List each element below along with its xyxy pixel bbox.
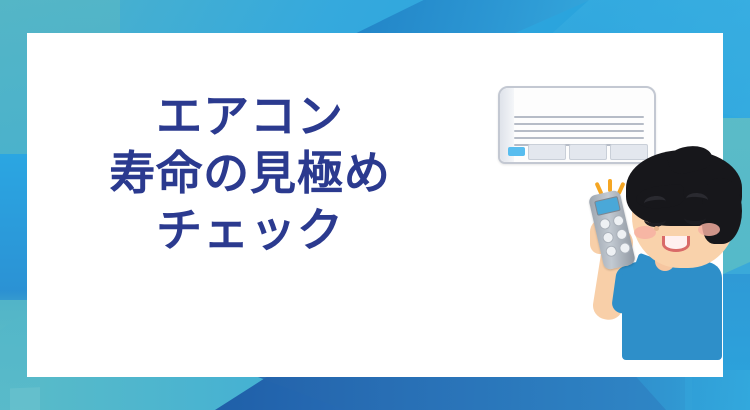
title-line-2: 寿命の見極め bbox=[40, 145, 460, 202]
air-conditioner-vent-panel bbox=[528, 144, 566, 160]
air-conditioner-louvers bbox=[514, 116, 644, 146]
person-mouth bbox=[662, 236, 690, 252]
person-eyebrow-left bbox=[643, 195, 666, 210]
air-conditioner-led-indicator bbox=[508, 147, 525, 156]
title-line-3: チェック bbox=[40, 202, 460, 259]
title-line-1: エアコン bbox=[40, 88, 460, 145]
remote-screen bbox=[594, 196, 621, 216]
person-nose bbox=[654, 226, 659, 231]
person-cheek-right bbox=[698, 223, 720, 236]
person-cheek-left bbox=[634, 226, 656, 239]
remote-buttons bbox=[598, 215, 628, 258]
person-eye-left bbox=[644, 212, 666, 227]
person-eyebrow-right bbox=[686, 192, 709, 207]
eyecatch-banner: エアコン 寿命の見極め チェック bbox=[0, 0, 750, 410]
person-eye-right bbox=[684, 210, 706, 225]
page-title: エアコン 寿命の見極め チェック bbox=[40, 88, 460, 259]
